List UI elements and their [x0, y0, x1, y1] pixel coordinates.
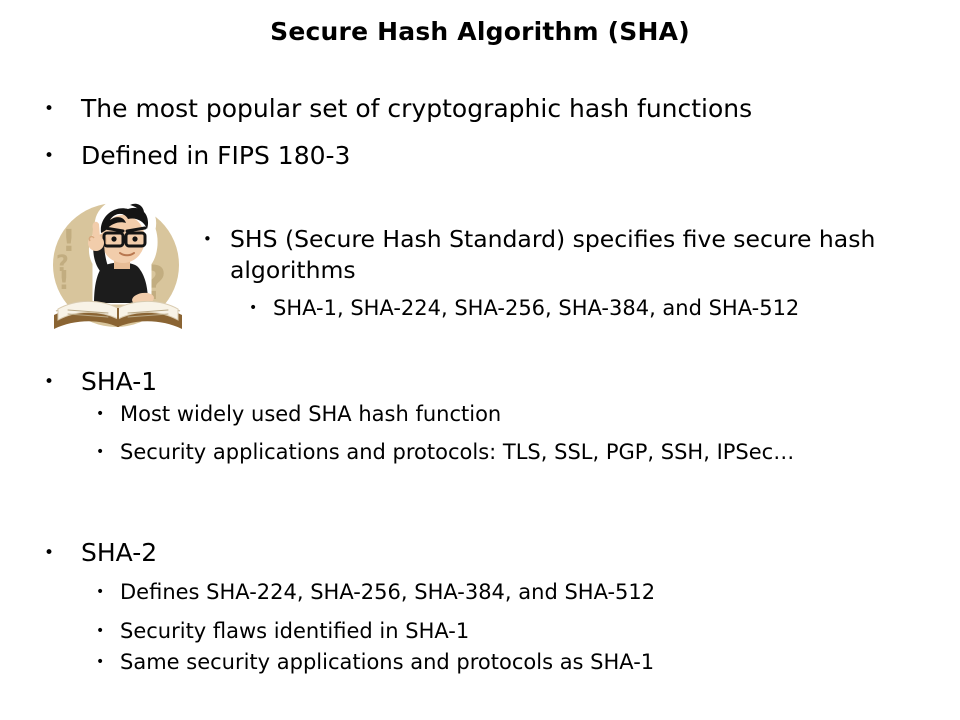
bullet-marker-icon: •	[203, 224, 230, 255]
bullet-popular-text: The most popular set of cryptographic ha…	[81, 92, 924, 126]
bullet-marker-icon: •	[96, 648, 120, 676]
bullet-sha2-defines: • Defines SHA-224, SHA-256, SHA-384, and…	[96, 578, 896, 606]
bullet-sha1-most-widely-used-text: Most widely used SHA hash function	[120, 400, 896, 428]
bullet-marker-icon: •	[96, 438, 120, 466]
bullet-sha1-applications-text: Security applications and protocols: TLS…	[120, 438, 856, 466]
bullet-fips-text: Defined in FIPS 180-3	[81, 139, 924, 173]
svg-text:?: ?	[56, 252, 69, 277]
bullet-marker-icon: •	[96, 400, 120, 428]
bullet-sha1-text: SHA-1	[81, 365, 924, 399]
bullet-sha2-defines-text: Defines SHA-224, SHA-256, SHA-384, and S…	[120, 578, 896, 606]
bullet-popular: • The most popular set of cryptographic …	[44, 92, 924, 126]
bullet-sha2-same-applications: • Same security applications and protoco…	[96, 648, 896, 676]
bullet-shs: • SHS (Secure Hash Standard) specifies f…	[203, 224, 933, 286]
bullet-sha-list-text: SHA-1, SHA-224, SHA-256, SHA-384, and SH…	[273, 294, 939, 322]
bullet-marker-icon: •	[96, 578, 120, 606]
bullet-sha2: • SHA-2	[44, 536, 924, 570]
bullet-sha2-text: SHA-2	[81, 536, 924, 570]
bullet-sha-list: • SHA-1, SHA-224, SHA-256, SHA-384, and …	[249, 294, 939, 322]
bullet-marker-icon: •	[44, 139, 81, 173]
bullet-marker-icon: •	[44, 365, 81, 399]
bullet-fips: • Defined in FIPS 180-3	[44, 139, 924, 173]
bullet-marker-icon: •	[44, 536, 81, 570]
bullet-sha1: • SHA-1	[44, 365, 924, 399]
bullet-sha1-most-widely-used: • Most widely used SHA hash function	[96, 400, 896, 428]
bullet-marker-icon: •	[249, 294, 273, 322]
bullet-sha2-same-applications-text: Same security applications and protocols…	[120, 648, 896, 676]
bullet-marker-icon: •	[44, 92, 81, 126]
bullet-marker-icon: •	[96, 617, 120, 645]
bullet-sha2-flaws: • Security flaws identified in SHA-1	[96, 617, 896, 645]
page-title: Secure Hash Algorithm (SHA)	[0, 17, 960, 47]
bullet-sha1-applications: • Security applications and protocols: T…	[96, 438, 856, 466]
bullet-shs-text: SHS (Secure Hash Standard) specifies fiv…	[230, 224, 933, 286]
bullet-sha2-flaws-text: Security flaws identified in SHA-1	[120, 617, 896, 645]
slide-canvas: Secure Hash Algorithm (SHA) ! ! ! ? ?	[0, 0, 960, 720]
thinking-man-reading-book-image: ! ! ! ? ?	[44, 193, 194, 348]
